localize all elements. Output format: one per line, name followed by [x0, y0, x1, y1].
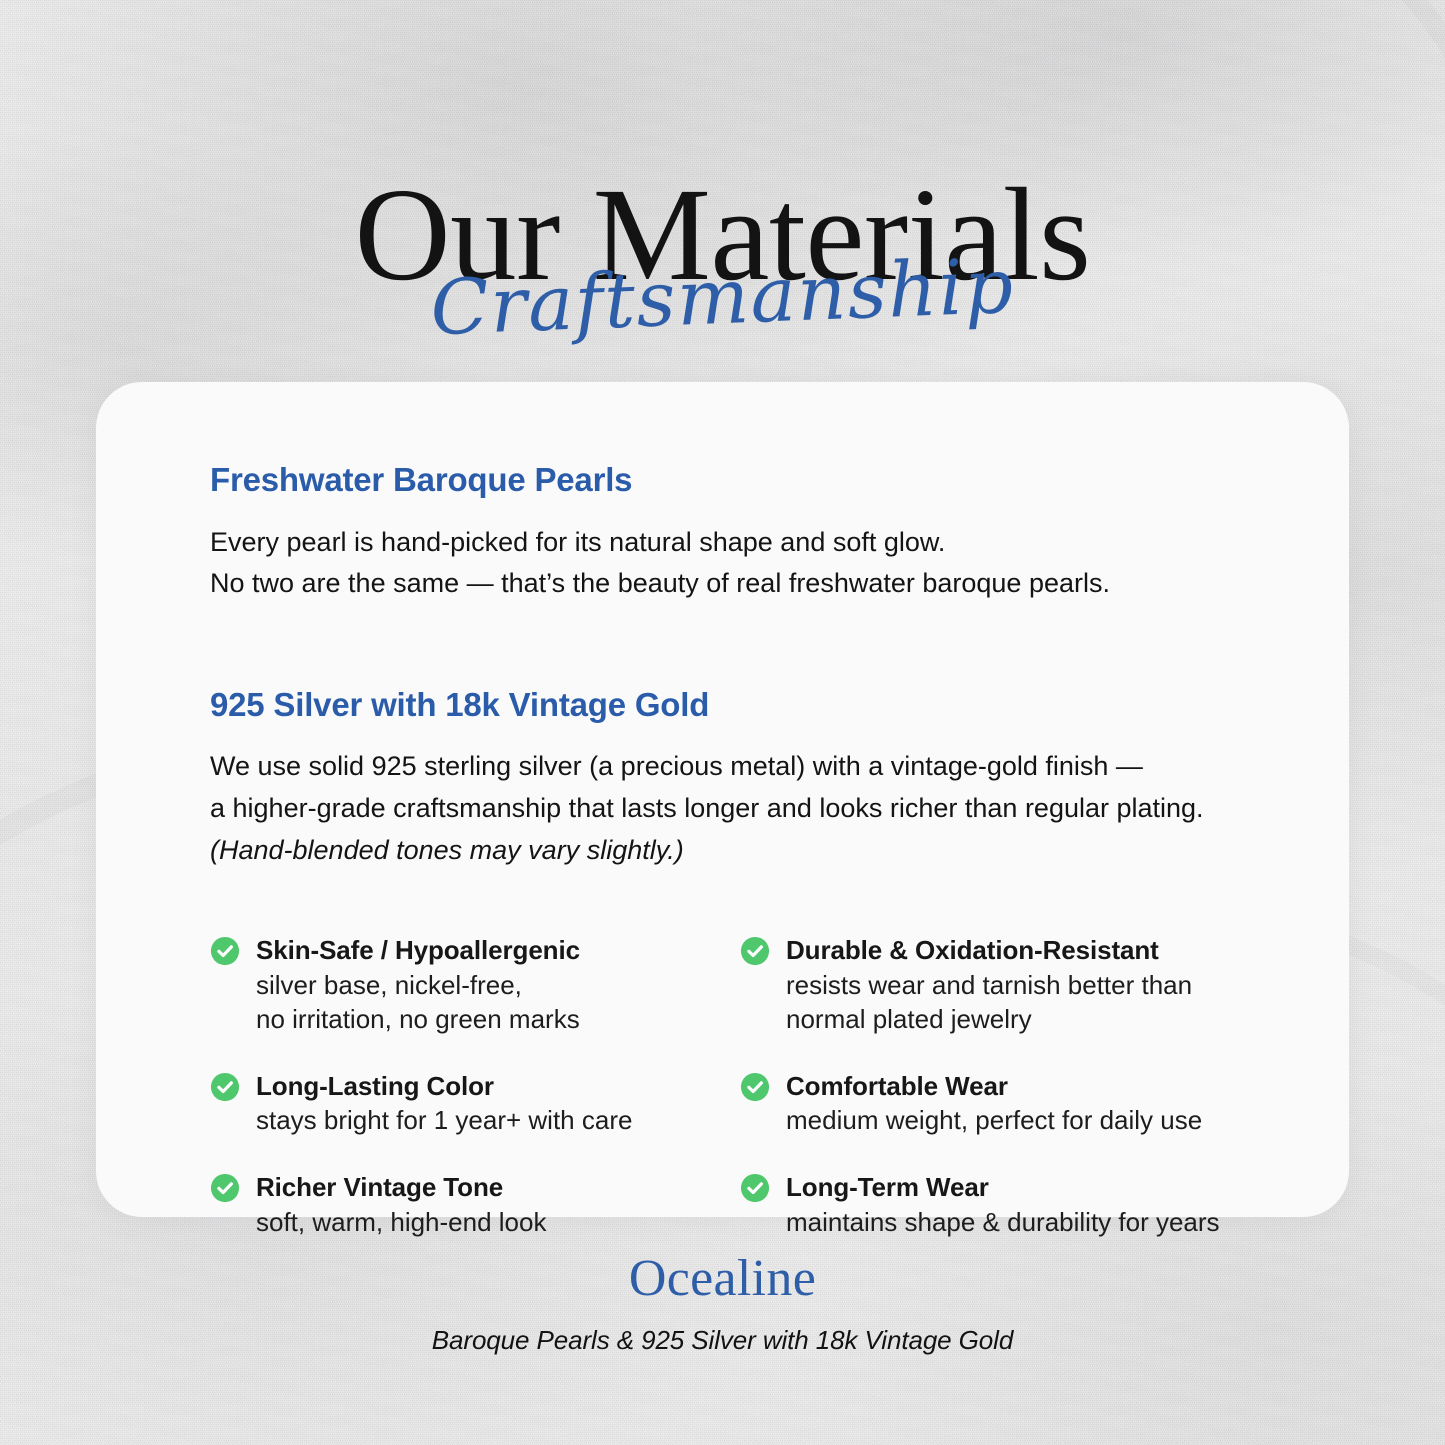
section-spacer — [210, 605, 1281, 685]
check-circle-icon — [210, 936, 240, 966]
section-body-line: a higher-grade craftsmanship that lasts … — [210, 788, 1281, 830]
section-freshwater-baroque-pearls: Freshwater Baroque Pearls Every pearl is… — [210, 460, 1281, 605]
feature-description-line: resists wear and tarnish better than — [786, 968, 1281, 1003]
materials-card: Freshwater Baroque Pearls Every pearl is… — [96, 382, 1349, 1217]
feature-item: Comfortable Wear medium weight, perfect … — [740, 1069, 1281, 1138]
feature-description-line: soft, warm, high-end look — [256, 1205, 740, 1240]
section-body-note: (Hand-blended tones may vary slightly.) — [210, 830, 1281, 872]
feature-item: Durable & Oxidation-Resistant resists we… — [740, 933, 1281, 1037]
feature-description: resists wear and tarnish better than nor… — [786, 968, 1281, 1037]
feature-description: silver base, nickel-free, no irritation,… — [256, 968, 740, 1037]
feature-item: Skin-Safe / Hypoallergenic silver base, … — [210, 933, 740, 1037]
feature-description: stays bright for 1 year+ with care — [256, 1103, 740, 1138]
feature-description-line: no irritation, no green marks — [256, 1002, 740, 1037]
page-footer: Ocealine Baroque Pearls & 925 Silver wit… — [0, 1250, 1445, 1356]
section-925-silver-18k-vintage-gold: 925 Silver with 18k Vintage Gold We use … — [210, 685, 1281, 871]
section-body: Every pearl is hand-picked for its natur… — [210, 522, 1281, 605]
feature-description-line: medium weight, perfect for daily use — [786, 1103, 1281, 1138]
feature-title: Richer Vintage Tone — [256, 1172, 503, 1202]
check-circle-icon — [740, 1072, 770, 1102]
feature-item: Richer Vintage Tone soft, warm, high-end… — [210, 1170, 740, 1239]
feature-description-line: maintains shape & durability for years — [786, 1205, 1281, 1240]
feature-title: Skin-Safe / Hypoallergenic — [256, 935, 580, 965]
feature-item: Long-Lasting Color stays bright for 1 ye… — [210, 1069, 740, 1138]
check-circle-icon — [740, 1173, 770, 1203]
check-circle-icon — [210, 1173, 240, 1203]
feature-grid: Skin-Safe / Hypoallergenic silver base, … — [210, 933, 1281, 1239]
feature-description-line: silver base, nickel-free, — [256, 968, 740, 1003]
brand-tagline: Baroque Pearls & 925 Silver with 18k Vin… — [0, 1325, 1445, 1356]
feature-title: Long-Lasting Color — [256, 1071, 494, 1101]
section-heading: Freshwater Baroque Pearls — [210, 460, 1281, 500]
feature-description: soft, warm, high-end look — [256, 1205, 740, 1240]
feature-description: medium weight, perfect for daily use — [786, 1103, 1281, 1138]
section-body-line: Every pearl is hand-picked for its natur… — [210, 522, 1281, 564]
feature-description-line: stays bright for 1 year+ with care — [256, 1103, 740, 1138]
feature-title: Comfortable Wear — [786, 1071, 1008, 1101]
feature-title: Durable & Oxidation-Resistant — [786, 935, 1159, 965]
feature-description: maintains shape & durability for years — [786, 1205, 1281, 1240]
page-header: Our Materials Craftsmanship — [0, 0, 1445, 382]
brand-name: Ocealine — [0, 1250, 1445, 1307]
check-circle-icon — [210, 1072, 240, 1102]
feature-description-line: normal plated jewelry — [786, 1002, 1281, 1037]
section-body: We use solid 925 sterling silver (a prec… — [210, 746, 1281, 871]
check-circle-icon — [740, 936, 770, 966]
feature-item: Long-Term Wear maintains shape & durabil… — [740, 1170, 1281, 1239]
section-heading: 925 Silver with 18k Vintage Gold — [210, 685, 1281, 725]
feature-title: Long-Term Wear — [786, 1172, 989, 1202]
section-body-line: We use solid 925 sterling silver (a prec… — [210, 746, 1281, 788]
section-body-line: No two are the same — that’s the beauty … — [210, 563, 1281, 605]
